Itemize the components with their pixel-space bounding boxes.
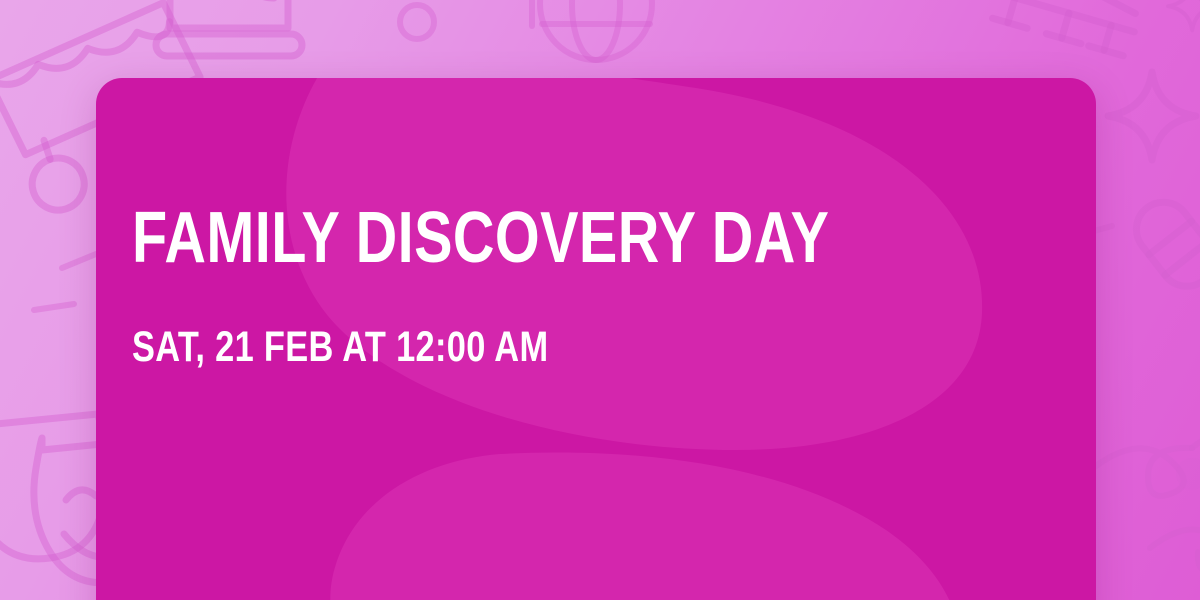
card-text-block: FAMILY DISCOVERY DAY SAT, 21 FEB AT 12:0… <box>132 203 1032 369</box>
sparkle-icon <box>1108 72 1196 160</box>
confetti-dash-icon <box>34 304 74 310</box>
microphone-icon <box>1126 191 1200 324</box>
squiggle-line-icon <box>1088 435 1200 571</box>
laptop-icon <box>156 0 302 56</box>
confetti-dash-icon <box>62 254 96 268</box>
event-banner: FAMILY DISCOVERY DAY SAT, 21 FEB AT 12:0… <box>0 0 1200 600</box>
circle-dot-icon <box>400 5 434 39</box>
globe-icon <box>540 0 652 60</box>
circle-dot-icon <box>1176 458 1200 490</box>
page-title: FAMILY DISCOVERY DAY <box>132 203 852 274</box>
stage-lights-icon <box>975 0 1143 57</box>
event-datetime: SAT, 21 FEB AT 12:00 AM <box>132 326 852 369</box>
sparkle-icon <box>1168 0 1200 30</box>
event-card[interactable]: FAMILY DISCOVERY DAY SAT, 21 FEB AT 12:0… <box>96 78 1096 600</box>
